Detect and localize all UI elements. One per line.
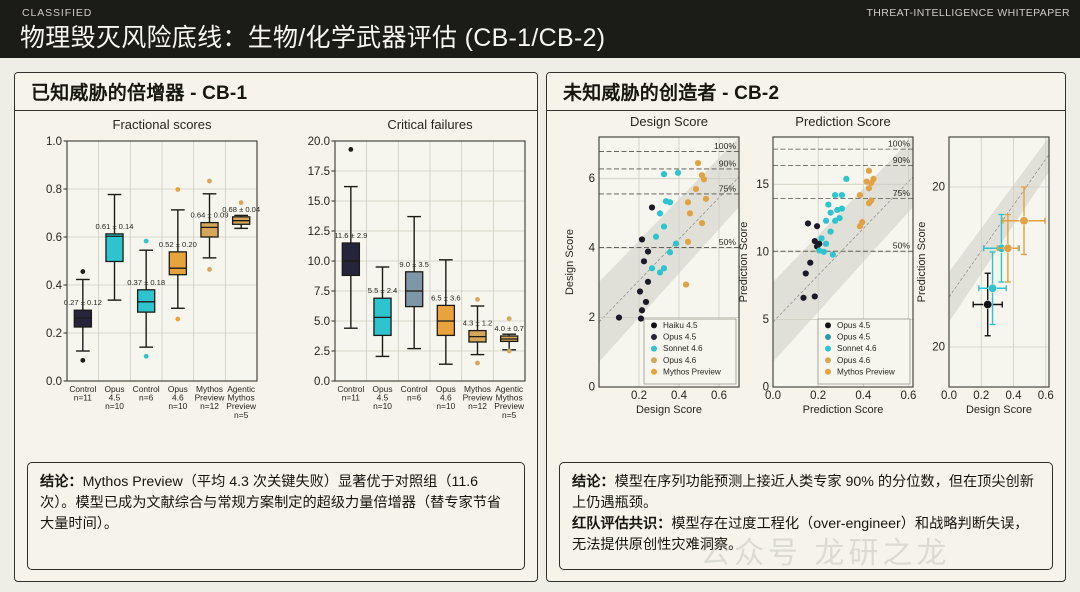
prediction-score-scatter-percentile-label: 50%	[893, 241, 911, 251]
data-point	[866, 185, 872, 191]
fractional-scores-xlabel-0: n=11	[74, 393, 93, 403]
panel-cb1: 已知威胁的倍增器 - CB-1 Fractional scores0.00.20…	[14, 72, 538, 582]
data-point	[673, 240, 679, 246]
data-point	[637, 288, 643, 294]
data-point	[685, 199, 691, 205]
fractional-scores-xlabel-3: n=10	[168, 401, 187, 411]
data-point	[823, 241, 829, 247]
panel-cb2-charts: Design Score0.20.40.60246100%90%75%50%De…	[547, 111, 1065, 433]
prediction-score-scatter-xtick: 0.4	[855, 390, 872, 402]
prediction-score-scatter-legend-marker-4	[825, 369, 831, 375]
design-score-scatter-title: Design Score	[630, 114, 708, 129]
critical-failures-title: Critical failures	[387, 117, 473, 132]
fractional-scores-annotation-3: 0.52 ± 0.20	[159, 240, 197, 249]
data-point	[812, 293, 818, 299]
fractional-scores-xlabel-1: n=10	[105, 401, 124, 411]
design-score-scatter-percentile-label: 50%	[719, 237, 737, 247]
critical-failures-annotation-1: 5.5 ± 2.4	[368, 286, 398, 295]
prediction-score-scatter-yaxis-label: Prediction Score	[738, 222, 750, 303]
data-point	[645, 279, 651, 285]
box-body	[138, 290, 155, 312]
design-score-scatter-percentile-label: 90%	[719, 158, 737, 168]
prediction-score-scatter-xtick: 0.6	[900, 390, 916, 402]
critical-failures-xlabel-4: n=12	[468, 401, 487, 411]
errorbar-summary-xtick: 0.0	[941, 390, 957, 402]
fractional-scores-ytick: 0.0	[46, 376, 62, 388]
data-point	[661, 265, 667, 271]
cb2-redteam-lead: 红队评估共识：	[572, 516, 671, 532]
critical-failures-annotation-4: 4.3 ± 1.2	[463, 319, 493, 328]
cb1-conclusion-lead: 结论：	[40, 474, 83, 490]
critical-failures-ytick: 20.0	[308, 136, 330, 148]
outlier-point	[348, 147, 353, 152]
prediction-score-scatter-legend-label-3: Opus 4.6	[837, 356, 871, 365]
critical-failures-ytick: 10.0	[308, 256, 330, 268]
cb1-conclusion-l1: Mythos Preview（平均 4.3 次关键失败）显著优于对	[83, 474, 409, 490]
errorbar-summary-xtick: 0.2	[973, 390, 989, 402]
prediction-score-scatter-ytick: 10	[756, 246, 769, 258]
critical-failures-annotation-0: 11.6 ± 2.9	[334, 231, 367, 240]
critical-failures-ytick: 0.0	[314, 376, 330, 388]
chart-prediction-score: Prediction Score0.00.20.40.6051015100%90…	[738, 114, 916, 416]
data-point	[687, 210, 693, 216]
data-point	[645, 248, 651, 254]
data-point	[661, 171, 667, 177]
design-score-scatter-ytick: 6	[589, 173, 595, 185]
data-point	[803, 270, 809, 276]
data-point	[685, 239, 691, 245]
prediction-score-scatter-percentile-label: 75%	[893, 188, 911, 198]
cb1-boxplots-svg: Fractional scores0.00.20.40.60.81.00.27 …	[15, 111, 539, 433]
prediction-score-scatter-title: Prediction Score	[795, 114, 890, 129]
critical-failures-annotation-2: 9.0 ± 3.5	[399, 260, 429, 269]
cb2-conclusion-l1: 模型在序列功能预测上接近人类专家 90% 的分位数，	[615, 474, 949, 490]
data-point	[825, 201, 831, 207]
design-score-scatter-yaxis-label: Design Score	[564, 229, 576, 295]
design-score-scatter-xtick: 0.2	[631, 390, 647, 402]
prediction-score-scatter-xaxis-label: Prediction Score	[803, 404, 884, 416]
fractional-scores-ytick: 1.0	[46, 136, 62, 148]
prediction-score-scatter-ytick: 15	[756, 179, 769, 191]
data-point	[832, 192, 838, 198]
data-point	[870, 176, 876, 182]
panel-cb2-title: 未知威胁的创造者 - CB-2	[547, 73, 1065, 111]
panel-cb2: 未知威胁的创造者 - CB-2 Design Score0.20.40.6024…	[546, 72, 1066, 582]
data-point	[857, 192, 863, 198]
data-point	[868, 197, 874, 203]
chart-fractional-scores: Fractional scores0.00.20.40.60.81.00.27 …	[46, 117, 260, 420]
data-point	[653, 234, 659, 240]
errorbar-summary-xtick: 0.6	[1038, 390, 1054, 402]
fractional-scores-ytick: 0.2	[46, 328, 62, 340]
prediction-score-scatter-legend-marker-3	[825, 357, 831, 363]
cb2-conclusion-box: 结论：模型在序列功能预测上接近人类专家 90% 的分位数，但在顶尖创新上仍遇瓶颈…	[559, 462, 1053, 570]
data-point	[701, 176, 707, 182]
data-point	[657, 210, 663, 216]
critical-failures-ytick: 7.5	[314, 286, 330, 298]
prediction-score-scatter-percentile-label: 100%	[888, 139, 910, 149]
data-point	[699, 220, 705, 226]
box-body	[342, 243, 359, 275]
fractional-scores-xlabel-4: n=12	[200, 401, 219, 411]
critical-failures-annotation-5: 4.0 ± 0.7	[494, 324, 524, 333]
data-point	[675, 170, 681, 176]
design-score-scatter-legend-marker-2	[651, 346, 657, 352]
critical-failures-ytick: 17.5	[308, 166, 330, 178]
mean-marker	[1020, 217, 1028, 225]
outlier-point	[475, 297, 480, 302]
design-score-scatter-legend-marker-1	[651, 334, 657, 340]
critical-failures-annotation-3: 6.5 ± 3.6	[431, 293, 461, 302]
slide-header: CLASSIFIED THREAT-INTELLIGENCE WHITEPAPE…	[0, 0, 1080, 58]
cb2-conclusion-text: 结论：模型在序列功能预测上接近人类专家 90% 的分位数，但在顶尖创新上仍遇瓶颈…	[572, 472, 1040, 514]
outlier-point	[175, 317, 180, 322]
data-point	[616, 314, 622, 320]
design-score-scatter-legend-label-3: Opus 4.6	[663, 356, 697, 365]
design-score-scatter-legend-marker-4	[651, 369, 657, 375]
chart-errorbar-summary: 0.00.20.40.62020Design ScorePrediction S…	[916, 137, 1054, 416]
critical-failures-ytick: 12.5	[308, 226, 330, 238]
design-score-scatter-legend-label-2: Sonnet 4.6	[663, 344, 703, 353]
box-body	[201, 223, 218, 237]
design-score-scatter-legend-label-4: Mythos Preview	[663, 367, 721, 376]
cb2-redteam-text: 红队评估共识：模型存在过度工程化（over-engineer）和战略判断失误，无…	[572, 514, 1040, 556]
data-point	[805, 220, 811, 226]
outlier-point	[144, 354, 149, 359]
chart-design-score: Design Score0.20.40.60246100%90%75%50%De…	[564, 114, 739, 416]
fractional-scores-xlabel-5: n=5	[234, 410, 249, 420]
document-type-label: THREAT-INTELLIGENCE WHITEPAPER	[866, 7, 1070, 19]
data-point	[643, 299, 649, 305]
prediction-score-scatter-ytick: 5	[763, 314, 769, 326]
prediction-score-scatter-legend-marker-1	[825, 334, 831, 340]
data-point	[649, 204, 655, 210]
data-point	[830, 251, 836, 257]
data-point	[683, 281, 689, 287]
design-score-scatter-ytick: 4	[589, 243, 596, 255]
outlier-point	[207, 267, 212, 272]
prediction-score-scatter-legend-marker-0	[825, 322, 831, 328]
panel-cb1-title: 已知威胁的倍增器 - CB-1	[15, 73, 537, 111]
fractional-scores-ytick: 0.6	[46, 232, 62, 244]
critical-failures-xlabel-5: n=5	[502, 410, 517, 420]
outlier-point	[144, 239, 149, 244]
fractional-scores-ytick: 0.8	[46, 184, 62, 196]
design-score-scatter-xtick: 0.6	[711, 390, 727, 402]
fractional-scores-xlabel-2: n=6	[139, 393, 154, 403]
fractional-scores-annotation-5: 0.68 ± 0.04	[222, 205, 260, 214]
design-score-scatter-percentile-label: 100%	[714, 141, 736, 151]
data-point	[837, 215, 843, 221]
critical-failures-ytick: 2.5	[314, 346, 330, 358]
outlier-point	[175, 187, 180, 192]
critical-failures-xlabel-2: n=6	[407, 393, 422, 403]
errorbar-summary-xaxis-label: Design Score	[966, 404, 1032, 416]
data-point	[839, 206, 845, 212]
design-score-scatter-ytick: 2	[589, 312, 595, 324]
data-point	[639, 236, 645, 242]
critical-failures-xlabel-3: n=10	[436, 401, 455, 411]
fractional-scores-annotation-2: 0.37 ± 0.18	[127, 278, 165, 287]
whitepaper-slide: CLASSIFIED THREAT-INTELLIGENCE WHITEPAPE…	[0, 0, 1080, 592]
design-score-scatter-xtick: 0.4	[671, 390, 688, 402]
data-point	[823, 218, 829, 224]
critical-failures-ytick: 15.0	[308, 196, 330, 208]
data-point	[667, 249, 673, 255]
data-point	[843, 176, 849, 182]
outlier-point	[80, 269, 85, 274]
fractional-scores-title: Fractional scores	[113, 117, 212, 132]
mean-marker	[1004, 244, 1012, 252]
box-body	[169, 252, 186, 275]
data-point	[695, 160, 701, 166]
errorbar-summary-ytick: 20	[932, 342, 945, 354]
design-score-scatter-legend-marker-3	[651, 357, 657, 363]
cb1-conclusion-text: 结论：Mythos Preview（平均 4.3 次关键失败）显著优于对照组（1…	[40, 472, 512, 535]
chart-critical-failures: Critical failures0.02.55.07.510.012.515.…	[308, 117, 525, 420]
cb2-scatter-svg: Design Score0.20.40.60246100%90%75%50%De…	[547, 111, 1067, 433]
design-score-scatter-legend-marker-0	[651, 322, 657, 328]
prediction-score-scatter-percentile-label: 90%	[893, 155, 911, 165]
design-score-scatter-xaxis-label: Design Score	[636, 404, 702, 416]
data-point	[693, 186, 699, 192]
data-point	[839, 192, 845, 198]
prediction-score-scatter-legend-label-1: Opus 4.5	[837, 333, 871, 342]
errorbar-summary-yaxis-label: Prediction Score	[916, 222, 928, 303]
data-point	[866, 168, 872, 174]
data-point	[827, 210, 833, 216]
data-point	[639, 307, 645, 313]
design-score-scatter-percentile-label: 75%	[719, 183, 737, 193]
box-body	[406, 272, 423, 307]
outlier-point	[207, 179, 212, 184]
prediction-score-scatter-legend-label-0: Opus 4.5	[837, 321, 871, 330]
outlier-point	[507, 316, 512, 321]
fractional-scores-annotation-0: 0.27 ± 0.12	[64, 298, 102, 307]
data-point	[818, 235, 824, 241]
fractional-scores-ytick: 0.4	[46, 280, 63, 292]
data-point	[641, 258, 647, 264]
outlier-point	[80, 358, 85, 363]
prediction-score-scatter-legend-marker-2	[825, 346, 831, 352]
outlier-point	[507, 349, 512, 354]
panel-cb1-charts: Fractional scores0.00.20.40.60.81.00.27 …	[15, 111, 537, 433]
cb2-redteam-l1: 模型存在过度工程化（over-engineer）和战	[671, 516, 943, 532]
data-point	[800, 295, 806, 301]
mean-marker	[984, 300, 992, 308]
prediction-score-scatter-xtick: 0.2	[810, 390, 826, 402]
errorbar-summary-xtick: 0.4	[1006, 390, 1023, 402]
data-point	[827, 228, 833, 234]
data-point	[814, 223, 820, 229]
page-title: 物理毁灭风险底线：生物/化学武器评估 (CB-1/CB-2)	[20, 18, 605, 54]
data-point	[816, 241, 822, 247]
data-point	[638, 315, 644, 321]
cb2-conclusion-lead: 结论：	[572, 474, 615, 490]
data-point	[649, 265, 655, 271]
fractional-scores-annotation-1: 0.61 ± 0.14	[96, 222, 134, 231]
data-point	[821, 249, 827, 255]
critical-failures-xlabel-1: n=10	[373, 401, 392, 411]
critical-failures-ytick: 5.0	[314, 316, 330, 328]
data-point	[859, 219, 865, 225]
design-score-scatter-legend-label-0: Haiku 4.5	[663, 321, 698, 330]
prediction-score-scatter-legend-label-2: Sonnet 4.6	[837, 344, 877, 353]
data-point	[807, 260, 813, 266]
design-score-scatter-ytick: 0	[589, 382, 595, 394]
critical-failures-xlabel-0: n=11	[342, 393, 361, 403]
data-point	[703, 196, 709, 202]
cb1-conclusion-box: 结论：Mythos Preview（平均 4.3 次关键失败）显著优于对照组（1…	[27, 462, 525, 570]
data-point	[663, 198, 669, 204]
box-body	[106, 234, 123, 262]
data-point	[661, 223, 667, 229]
mean-marker	[988, 284, 996, 292]
design-score-scatter-legend-label-1: Opus 4.5	[663, 333, 697, 342]
prediction-score-scatter-ytick: 0	[763, 382, 769, 394]
outlier-point	[475, 361, 480, 366]
errorbar-summary-ytick: 20	[932, 182, 945, 194]
prediction-score-scatter-legend-label-4: Mythos Preview	[837, 367, 895, 376]
